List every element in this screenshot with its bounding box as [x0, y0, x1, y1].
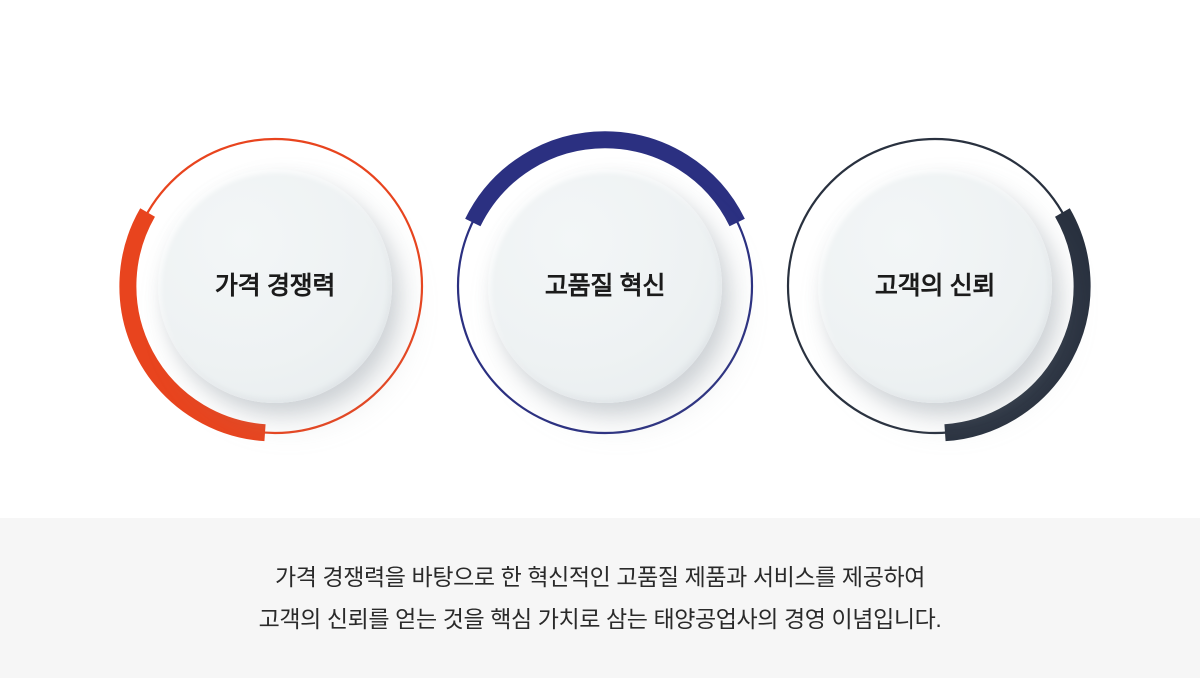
badge-customer-trust[interactable]: 고객의 신뢰	[780, 131, 1090, 441]
badge-label-customer-trust: 고객의 신뢰	[875, 274, 995, 299]
badge-disc: 고객의 신뢰	[818, 169, 1052, 403]
statement-line-1: 가격 경쟁력을 바탕으로 한 혁신적인 고품질 제품과 서비스를 제공하여	[275, 556, 925, 598]
badge-price-competitiveness[interactable]: 가격 경쟁력	[120, 131, 430, 441]
badge-label-price-competitiveness: 가격 경쟁력	[215, 274, 335, 299]
badge-disc: 고품질 혁신	[488, 169, 722, 403]
badge-row: 가격 경쟁력 고품질 혁신 고객의 신뢰	[0, 0, 1200, 518]
badge-high-quality-innovation[interactable]: 고품질 혁신	[450, 131, 760, 441]
philosophy-graphic: 가격 경쟁력 고품질 혁신 고객의 신뢰	[0, 0, 1200, 678]
philosophy-statement: 가격 경쟁력을 바탕으로 한 혁신적인 고품질 제품과 서비스를 제공하여 고객…	[0, 518, 1200, 678]
badge-label-high-quality-innovation: 고품질 혁신	[545, 274, 665, 299]
statement-line-2: 고객의 신뢰를 얻는 것을 핵심 가치로 삼는 태양공업사의 경영 이념입니다.	[259, 598, 942, 640]
badge-disc: 가격 경쟁력	[158, 169, 392, 403]
